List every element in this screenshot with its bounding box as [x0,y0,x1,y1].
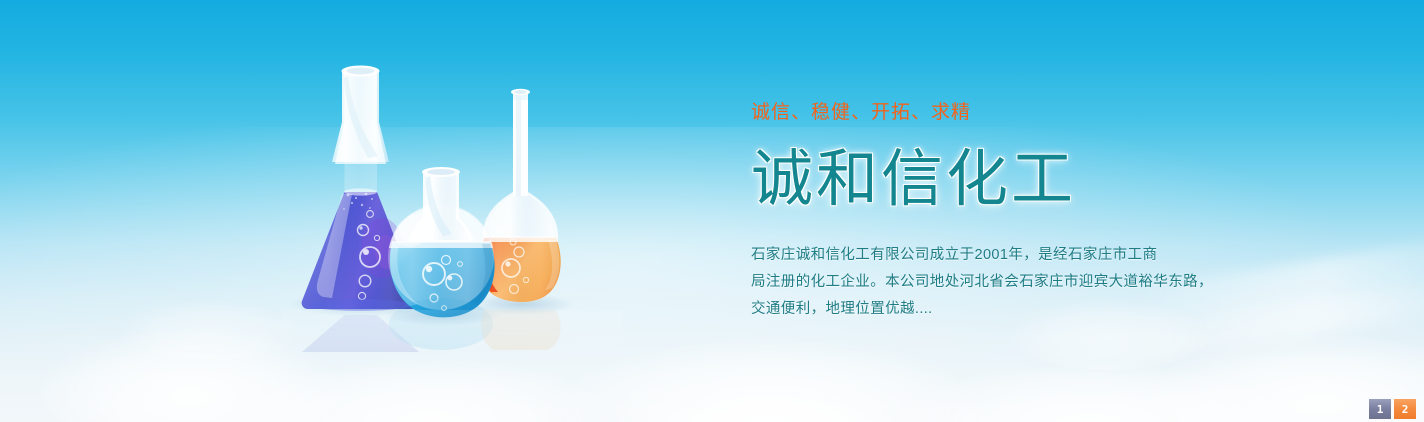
description-line: 局注册的化工企业。本公司地处河北省会石家庄市迎宾大道裕华东路， [751,269,1271,296]
flask-round-bottom-cyan [388,167,495,317]
pagination-button-2[interactable]: 2 [1394,399,1416,419]
pagination-button-1[interactable]: 1 [1369,399,1391,419]
banner-pagination: 1 2 [1369,399,1416,419]
description-line: 石家庄诚和信化工有限公司成立于2001年，是经石家庄市工商 [751,242,1271,269]
banner-slogan: 诚信、稳健、开拓、求精 [751,100,1271,126]
cloud [900,365,1280,422]
banner-brand-title: 诚和信化工 [751,142,1271,218]
banner-description: 石家庄诚和信化工有限公司成立于2001年，是经石家庄市工商 局注册的化工企业。本… [751,242,1271,323]
description-line: 交通便利，地理位置优越.... [751,296,1271,323]
cloud [640,390,900,422]
chemistry-flasks-illustration [282,52,622,352]
cloud [120,300,300,360]
cloud [560,340,980,422]
hero-banner: 诚信、稳健、开拓、求精 诚和信化工 石家庄诚和信化工有限公司成立于2001年，是… [0,0,1424,422]
cloud [250,360,610,422]
banner-copy: 诚信、稳健、开拓、求精 诚和信化工 石家庄诚和信化工有限公司成立于2001年，是… [751,100,1271,323]
